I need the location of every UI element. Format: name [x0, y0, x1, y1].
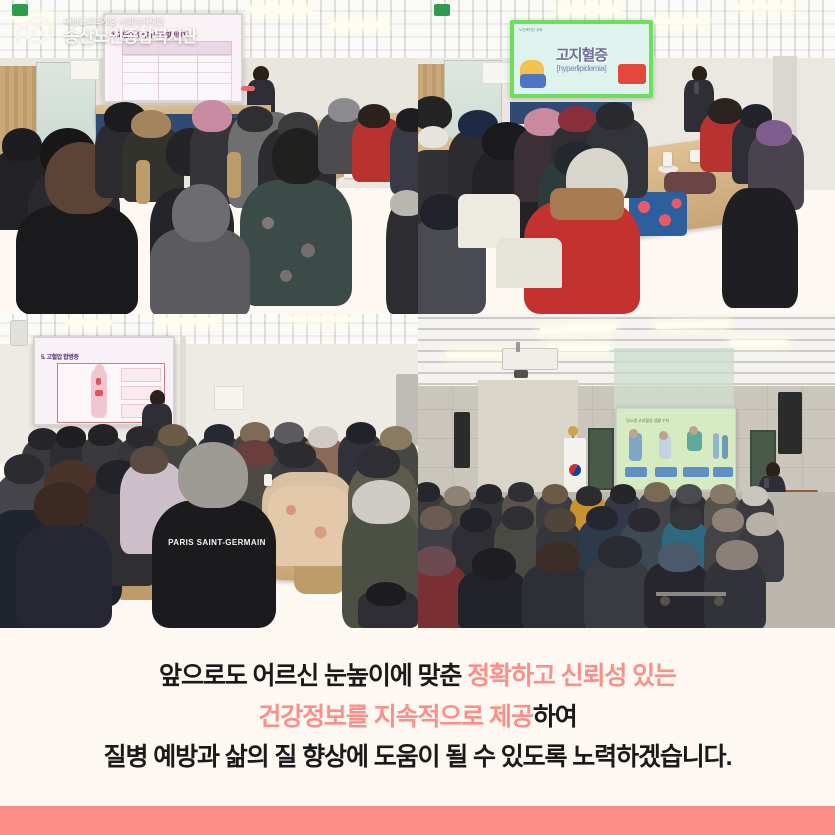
- foundation-name: 대한불교조계종 사회복지재단: [64, 17, 197, 26]
- organization-logo: 대한불교조계종 사회복지재단 송산노인종합복지관: [14, 12, 197, 50]
- microphone-icon: [694, 82, 699, 94]
- audience-member-backpack: [722, 188, 798, 308]
- chair-back: [136, 160, 150, 204]
- audience-member: [508, 482, 534, 502]
- exit-sign-icon: [434, 4, 450, 16]
- slide-header-label: 노인복지관 교육: [519, 28, 543, 33]
- room-scene-4: 당뇨병 고지혈증 생활 수칙: [418, 314, 835, 628]
- caption-line-2-plain: 하여: [533, 703, 577, 731]
- audience-member: [476, 484, 502, 504]
- window: [588, 428, 614, 490]
- caption-line-3: 질병 예방과 삶의 질 향상에 도움이 될 수 있도록 노력하겠습니다.: [104, 737, 732, 778]
- callout-box: [121, 368, 161, 382]
- jacket-text: PARIS SAINT-GERMAIN: [164, 536, 270, 548]
- wall-speaker: [454, 412, 470, 468]
- slide-table-rule: [158, 41, 159, 101]
- photo-bottom-right[interactable]: 당뇨병 고지혈증 생활 수칙: [418, 314, 835, 628]
- projection-screen-2: 노인복지관 교육 고지혈증 [hyperlipidemia]: [510, 20, 653, 98]
- slide-table-rule: [197, 41, 198, 101]
- ceiling-lamp: [292, 316, 350, 322]
- audience-member: [628, 508, 660, 532]
- projector-mount: [516, 342, 520, 352]
- slide-character-illustration: [520, 74, 546, 88]
- wall-section: [478, 380, 578, 500]
- slide-figure-head-icon: [689, 426, 698, 435]
- audience-member-patterned-coat: [248, 190, 348, 300]
- audience-member: [502, 506, 534, 530]
- walker-wheel-icon: [660, 596, 670, 606]
- audience-member: [356, 446, 400, 478]
- audience-member: [536, 542, 580, 574]
- wall-notice: [482, 62, 512, 84]
- wall-notice: [70, 60, 100, 80]
- walker-wheel-icon: [714, 596, 724, 606]
- audience-member: [158, 424, 188, 446]
- slide-label-chip: [683, 467, 709, 477]
- slide-table-rule: [123, 72, 231, 73]
- audience-member: [237, 106, 273, 132]
- projector-lens-icon: [514, 370, 528, 378]
- folded-garment: [664, 172, 716, 194]
- audience-member: [644, 482, 670, 502]
- slide-label-chip: [713, 467, 733, 477]
- audience-member: [420, 506, 452, 530]
- bottle-icon: [713, 433, 719, 459]
- audience-member-mask: [418, 126, 448, 148]
- caption-line-2-accent: 건강정보를 지속적으로 제공: [258, 703, 533, 731]
- audience-member: [2, 128, 42, 162]
- audience-member: [716, 540, 758, 570]
- photo-bottom-left[interactable]: 5. 고혈압 합병증: [0, 314, 418, 628]
- audience-member: [130, 446, 168, 474]
- audience-member: [131, 110, 171, 138]
- wall-speaker: [778, 392, 802, 454]
- slide-title: 당뇨병 고지혈증 생활 수칙: [626, 418, 669, 424]
- audience-member: [358, 104, 390, 128]
- flag-finial-icon: [568, 426, 578, 436]
- ceiling-lamp: [250, 6, 312, 13]
- audience-member: [712, 508, 744, 532]
- audience-member-psg-jacket: [152, 500, 276, 628]
- audience-member: [658, 542, 700, 572]
- slide-table-rule: [123, 62, 231, 63]
- room-scene-3: 5. 고혈압 합병증: [0, 314, 418, 628]
- audience-member: [544, 508, 576, 532]
- organ-icon: [95, 390, 103, 396]
- bottom-accent-bar: [0, 806, 835, 835]
- audience-member: [542, 484, 568, 504]
- audience-member: [16, 526, 112, 628]
- ceiling-lamp: [736, 4, 794, 10]
- ceiling-lamp: [730, 340, 788, 345]
- ceiling-lamp: [156, 318, 218, 324]
- photo-collage: 2. 고혈압 수치에 대해 알아보자: [0, 0, 835, 628]
- bottle-icon: [722, 435, 728, 459]
- audience-member: [598, 536, 642, 568]
- audience-member: [390, 122, 418, 194]
- slide-figure-head-icon: [659, 431, 668, 440]
- audience-member: [346, 422, 376, 444]
- audience-member-purple-hat: [756, 120, 792, 146]
- audience-member: [88, 424, 118, 446]
- audience-member: [742, 486, 768, 506]
- audience-member: [576, 486, 602, 506]
- audience-member: [274, 422, 304, 444]
- center-name: 송산노인종합복지관: [64, 28, 197, 45]
- audience-member: [586, 506, 618, 530]
- audience-member: [366, 582, 406, 606]
- ceiling-lamp: [66, 320, 112, 325]
- audience-member: [708, 98, 742, 124]
- audience-member: [596, 102, 634, 130]
- audience-member: [56, 426, 86, 448]
- audience-member: [584, 558, 650, 628]
- audience-member: [710, 484, 736, 504]
- audience-member: [328, 98, 360, 122]
- audience-member: [34, 482, 90, 528]
- audience-member: [746, 512, 778, 536]
- audience-member: [610, 484, 636, 504]
- fur-collar: [550, 188, 624, 220]
- body-diagram-head-icon: [95, 364, 104, 373]
- audience-member: [386, 200, 418, 314]
- ceiling-lamp: [330, 22, 388, 28]
- chair-white: [496, 238, 562, 288]
- card-root: 2. 고혈압 수치에 대해 알아보자: [0, 0, 835, 835]
- audience-member-patterned-coat: [268, 486, 350, 566]
- slide-label-chip: [655, 467, 677, 477]
- ceiling-lamp: [446, 352, 508, 357]
- slide-table-rule: [123, 83, 231, 84]
- audience-member: [418, 482, 440, 502]
- caption-line-2: 건강정보를 지속적으로 제공하여: [258, 697, 576, 738]
- audience-member: [278, 442, 316, 468]
- audience-member: [4, 454, 44, 484]
- organ-icon: [96, 378, 101, 385]
- taegeuk-icon: [569, 464, 581, 476]
- paper-cup: [264, 474, 272, 486]
- audience-member: [418, 96, 452, 130]
- slide-title: 5. 고혈압 합병증: [41, 352, 78, 361]
- audience-member: [670, 506, 702, 530]
- audience-member: [396, 108, 418, 132]
- caption-block: 앞으로도 어르신 눈높이에 맞춘 정확하고 신뢰성 있는 건강정보를 지속적으로…: [0, 628, 835, 806]
- microphone-icon: [764, 478, 769, 488]
- caption-line-1-accent: 정확하고 신뢰성 있는: [467, 662, 676, 690]
- slide-label-chip: [625, 467, 647, 477]
- ceiling-lamp: [654, 18, 710, 24]
- audience-member: [472, 548, 516, 580]
- room-scene-2: 노인복지관 교육 고지혈증 [hyperlipidemia]: [418, 0, 835, 314]
- logo-text-block: 대한불교조계종 사회복지재단 송산노인종합복지관: [64, 17, 197, 46]
- ceiling-projector: [502, 348, 558, 370]
- coffee-cup: [663, 152, 672, 166]
- projection-screen-4: 당뇨병 고지혈증 생활 수칙: [616, 408, 736, 490]
- audience-member: [16, 205, 138, 314]
- audience-member: [126, 426, 156, 448]
- slide-figure-head-icon: [629, 429, 638, 438]
- audience-member-white-hair: [352, 480, 410, 524]
- audience-member: [172, 184, 230, 242]
- chair-back: [227, 152, 241, 198]
- wall-speaker: [10, 320, 28, 346]
- audience-member: [444, 486, 470, 506]
- audience-member: [192, 100, 232, 132]
- caption-line-1-plain: 앞으로도 어르신 눈높이에 맞춘: [159, 662, 467, 690]
- audience-member: [676, 484, 702, 504]
- audience-member: [460, 508, 492, 532]
- ceiling-lamp: [558, 6, 620, 13]
- presenter-hand: [241, 86, 255, 91]
- wall-notice: [214, 386, 244, 410]
- caption-line-1: 앞으로도 어르신 눈높이에 맞춘 정확하고 신뢰성 있는: [159, 656, 676, 697]
- photo-top-right[interactable]: 노인복지관 교육 고지혈증 [hyperlipidemia]: [418, 0, 835, 314]
- slide-badge-illustration: [618, 64, 646, 84]
- audience-member: [272, 128, 324, 184]
- audience-member: [390, 190, 418, 216]
- audience-member: [418, 546, 456, 576]
- audience-member: [308, 426, 338, 448]
- audience-member-grey-hair: [178, 442, 248, 508]
- sambo-wheel-logo-icon: [14, 12, 56, 50]
